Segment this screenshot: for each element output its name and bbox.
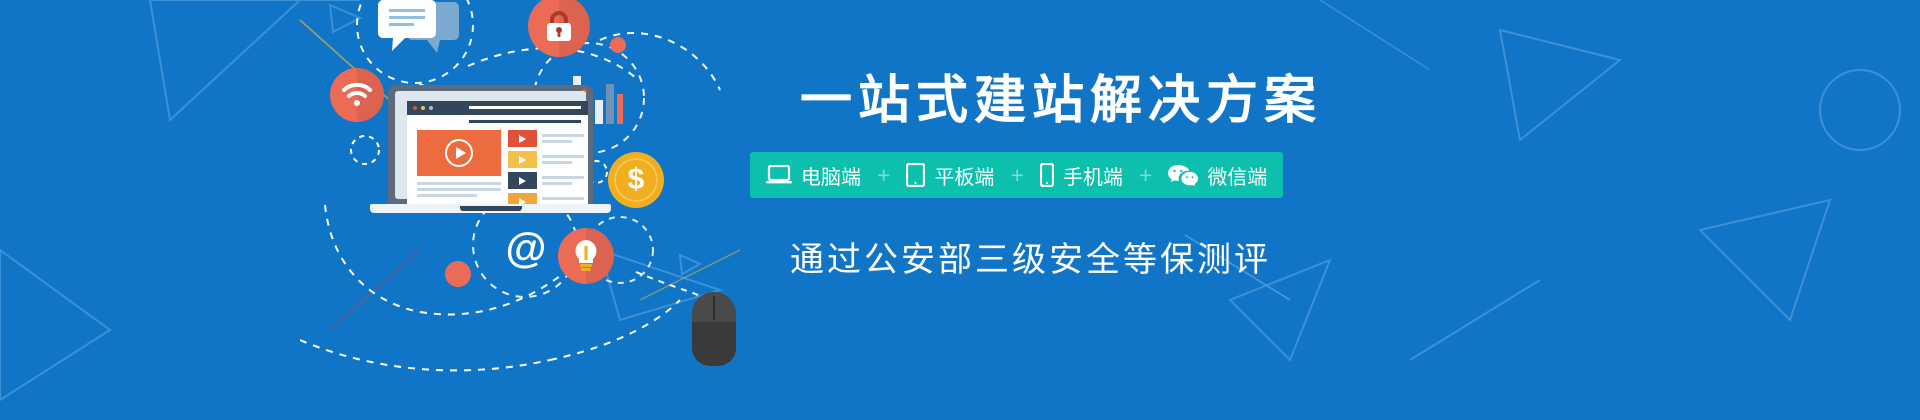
body-text-line bbox=[417, 194, 477, 197]
smartphone-icon bbox=[1040, 163, 1054, 187]
play-button-icon bbox=[445, 139, 473, 167]
main-video-block bbox=[417, 130, 501, 176]
platform-item-wechat[interactable]: 微信端 bbox=[1168, 161, 1267, 190]
text-column: 一站式建站解决方案 电脑端 + bbox=[745, 0, 1365, 420]
illustration-group: $ @ bbox=[300, 0, 800, 420]
platform-item-tablet[interactable]: 平板端 bbox=[906, 161, 994, 190]
body-text-line bbox=[417, 182, 501, 185]
browser-dot-blue bbox=[429, 106, 433, 110]
video-thumbnail bbox=[508, 172, 537, 189]
laptop-body bbox=[388, 85, 593, 205]
banner-subtitle: 通过公安部三级安全等保测评 bbox=[790, 232, 1271, 281]
dollar-coin-icon: $ bbox=[608, 152, 664, 208]
video-thumbnail bbox=[508, 130, 537, 147]
coin-symbol: $ bbox=[628, 163, 645, 197]
laptop-screen bbox=[407, 101, 588, 205]
thumb-text-line bbox=[542, 182, 572, 185]
laptop-icon bbox=[766, 165, 792, 185]
thumb-text-line bbox=[542, 155, 584, 158]
body-text-line bbox=[417, 188, 501, 191]
plus-separator: + bbox=[1004, 162, 1029, 189]
platform-bar: 电脑端 + 平板端 + bbox=[750, 152, 1283, 198]
platform-label: 电脑端 bbox=[801, 161, 861, 190]
platform-item-desktop[interactable]: 电脑端 bbox=[766, 161, 861, 190]
thumb-text-line bbox=[542, 176, 584, 179]
computer-mouse-icon bbox=[692, 292, 736, 366]
laptop-bezel bbox=[395, 91, 586, 199]
promo-banner: $ @ bbox=[0, 0, 1920, 420]
platform-label: 平板端 bbox=[934, 161, 994, 190]
page-heading-line bbox=[469, 120, 581, 123]
tablet-icon bbox=[906, 163, 925, 187]
platform-item-mobile[interactable]: 手机端 bbox=[1040, 161, 1123, 190]
banner-title: 一站式建站解决方案 bbox=[800, 58, 1322, 133]
browser-dot-yellow bbox=[421, 106, 425, 110]
plus-separator: + bbox=[871, 162, 896, 189]
play-triangle bbox=[519, 135, 526, 143]
video-thumbnail bbox=[508, 151, 537, 168]
play-triangle bbox=[456, 147, 466, 159]
lightbulb-icon bbox=[558, 228, 614, 284]
thumb-text-line bbox=[542, 134, 584, 137]
laptop-trackpad-notch bbox=[460, 206, 522, 211]
browser-urlbar bbox=[469, 106, 581, 109]
thumb-text-line bbox=[542, 197, 584, 200]
play-triangle bbox=[519, 177, 526, 185]
wifi-icon bbox=[330, 68, 384, 122]
platform-label: 手机端 bbox=[1063, 161, 1123, 190]
wechat-icon bbox=[1168, 164, 1198, 186]
play-triangle bbox=[519, 156, 526, 164]
thumb-text-line bbox=[542, 161, 572, 164]
mouse-button-divider bbox=[713, 296, 715, 320]
laptop-illustration bbox=[388, 85, 593, 220]
platform-label: 微信端 bbox=[1207, 161, 1267, 190]
browser-dot-red bbox=[413, 106, 417, 110]
plus-separator: + bbox=[1133, 162, 1158, 189]
thumb-text-line bbox=[542, 140, 572, 143]
browser-titlebar bbox=[407, 101, 588, 115]
